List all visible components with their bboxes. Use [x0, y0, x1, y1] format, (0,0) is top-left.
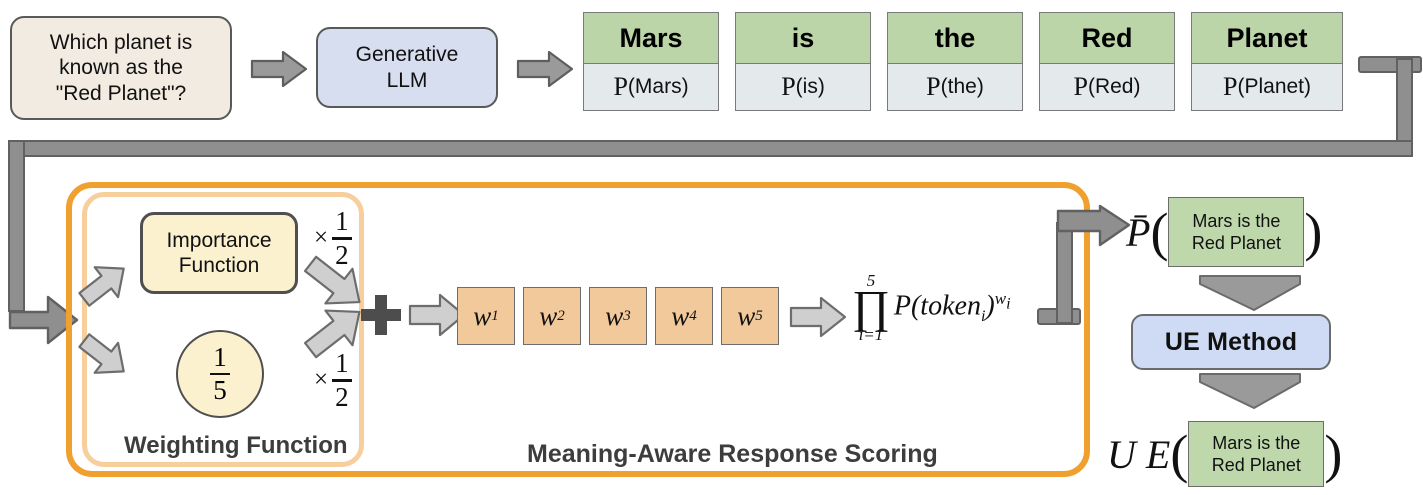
arrow-pbar-to-ue-method — [1196, 272, 1304, 312]
prob-fn: P — [1074, 72, 1088, 102]
token-label: Planet — [1192, 13, 1342, 64]
arrow-to-importance-function — [75, 258, 133, 310]
arrow-llm-to-tokens — [516, 50, 574, 88]
token-card: Red P(Red) — [1039, 12, 1175, 111]
weight-chip: w4 — [655, 287, 713, 345]
scoring-section-label: Meaning-Aware Response Scoring — [527, 440, 938, 469]
token-card: Mars P(Mars) — [583, 12, 719, 111]
product-symbol: ∏ — [852, 289, 890, 326]
ue-label: U E — [1107, 431, 1170, 478]
pbar-response-line-2: Red Planet — [1192, 232, 1281, 255]
ue-open-paren: ( — [1170, 430, 1188, 479]
weight-symbol: w — [605, 301, 623, 332]
token-card: is P(is) — [735, 12, 871, 111]
ue-method-label: UE Method — [1165, 328, 1297, 357]
pbar-open-paren: ( — [1150, 208, 1168, 257]
pbar-expression: P̄ ( Mars is the Red Planet ) — [1126, 192, 1322, 272]
importance-line-1: Importance — [166, 228, 271, 253]
token-probability: P(Planet) — [1192, 64, 1342, 110]
prob-arg: (Red) — [1088, 75, 1141, 99]
pbar-close-paren: ) — [1304, 208, 1322, 257]
token-label: is — [736, 13, 870, 64]
weight-chip: w3 — [589, 287, 647, 345]
token-label: Red — [1040, 13, 1174, 64]
weight-index: 5 — [755, 308, 763, 325]
weighted-product-formula: 5 ∏ i=1 P(tokeni)wi — [852, 272, 1011, 343]
weight-chip: w5 — [721, 287, 779, 345]
weight-chip: w2 — [523, 287, 581, 345]
diagram-canvas: Which planet is known as the "Red Planet… — [0, 0, 1423, 495]
llm-line-2: LLM — [356, 68, 459, 94]
arrow-ue-method-to-ue — [1196, 370, 1304, 410]
prob-arg: (the) — [941, 75, 984, 99]
product-base: P(token — [894, 290, 981, 321]
prob-fn: P — [926, 72, 940, 102]
arrow-product-to-pbar — [1056, 204, 1132, 252]
importance-function-box: Importance Function — [140, 212, 298, 294]
pbar-response-line-1: Mars is the — [1192, 210, 1281, 233]
prob-arg: (Mars) — [628, 75, 689, 99]
ue-response-line-1: Mars is the — [1212, 432, 1301, 455]
token-card: the P(the) — [887, 12, 1023, 111]
weight-index: 1 — [491, 308, 499, 325]
pipe-main-horizontal — [8, 140, 1413, 157]
token-label: the — [888, 13, 1022, 64]
product-body: P(tokeni)wi — [894, 289, 1011, 326]
token-card: Planet P(Planet) — [1191, 12, 1343, 111]
uniform-weight-circle: 1 5 — [176, 330, 264, 418]
ue-expression: U E ( Mars is the Red Planet ) — [1107, 418, 1342, 490]
weight-index: 4 — [689, 308, 697, 325]
pbar-label: P̄ — [1126, 209, 1150, 256]
token-probability: P(Red) — [1040, 64, 1174, 110]
product-exponent-sub: i — [1006, 295, 1010, 312]
question-box: Which planet is known as the "Red Planet… — [10, 16, 232, 120]
ue-close-paren: ) — [1324, 430, 1342, 479]
weight-chip: w1 — [457, 287, 515, 345]
token-probability: P(the) — [888, 64, 1022, 110]
multiply-sign: × — [314, 224, 328, 252]
uniform-denominator: 5 — [210, 377, 230, 404]
token-probability: P(is) — [736, 64, 870, 110]
weight-symbol: w — [539, 301, 557, 332]
question-line-3: "Red Planet"? — [50, 81, 192, 107]
question-line-2: known as the — [50, 55, 192, 81]
prob-fn: P — [781, 72, 795, 102]
question-line-1: Which planet is — [50, 30, 192, 56]
pbar-response-chip: Mars is the Red Planet — [1168, 197, 1304, 267]
ue-response-chip: Mars is the Red Planet — [1188, 421, 1324, 487]
weight-symbol: w — [737, 301, 755, 332]
uniform-fraction: 1 5 — [210, 344, 230, 405]
weighting-section-label: Weighting Function — [124, 432, 348, 460]
token-label: Mars — [584, 13, 718, 64]
prob-fn: P — [613, 72, 627, 102]
weight-index: 3 — [623, 308, 631, 325]
sum-combiner-icon — [358, 292, 404, 338]
arrow-question-to-llm — [250, 50, 308, 88]
weight-symbol: w — [671, 301, 689, 332]
prob-fn: P — [1223, 72, 1237, 102]
scale-bottom-denominator: 2 — [332, 384, 352, 411]
prob-arg: (is) — [796, 75, 825, 99]
weight-symbol: w — [473, 301, 491, 332]
pipe-left-vertical — [8, 140, 25, 312]
llm-line-1: Generative — [356, 42, 459, 68]
scale-top-numerator: 1 — [332, 208, 352, 235]
token-probability: P(Mars) — [584, 64, 718, 110]
ue-response-line-2: Red Planet — [1212, 454, 1301, 477]
arrow-to-uniform-weight — [75, 330, 133, 382]
product-base-close: ) — [985, 290, 994, 321]
product-exponent: w — [995, 289, 1006, 308]
multiply-sign: × — [314, 366, 328, 394]
arrow-weights-to-product — [789, 295, 847, 339]
prob-arg: (Planet) — [1237, 75, 1311, 99]
generative-llm-box: Generative LLM — [316, 27, 498, 108]
ue-method-box: UE Method — [1131, 314, 1331, 370]
weight-index: 2 — [557, 308, 565, 325]
uniform-numerator: 1 — [210, 344, 230, 371]
importance-line-2: Function — [166, 253, 271, 278]
pipe-right-vertical — [1396, 58, 1413, 153]
product-lower-limit: i=1 — [859, 326, 884, 343]
